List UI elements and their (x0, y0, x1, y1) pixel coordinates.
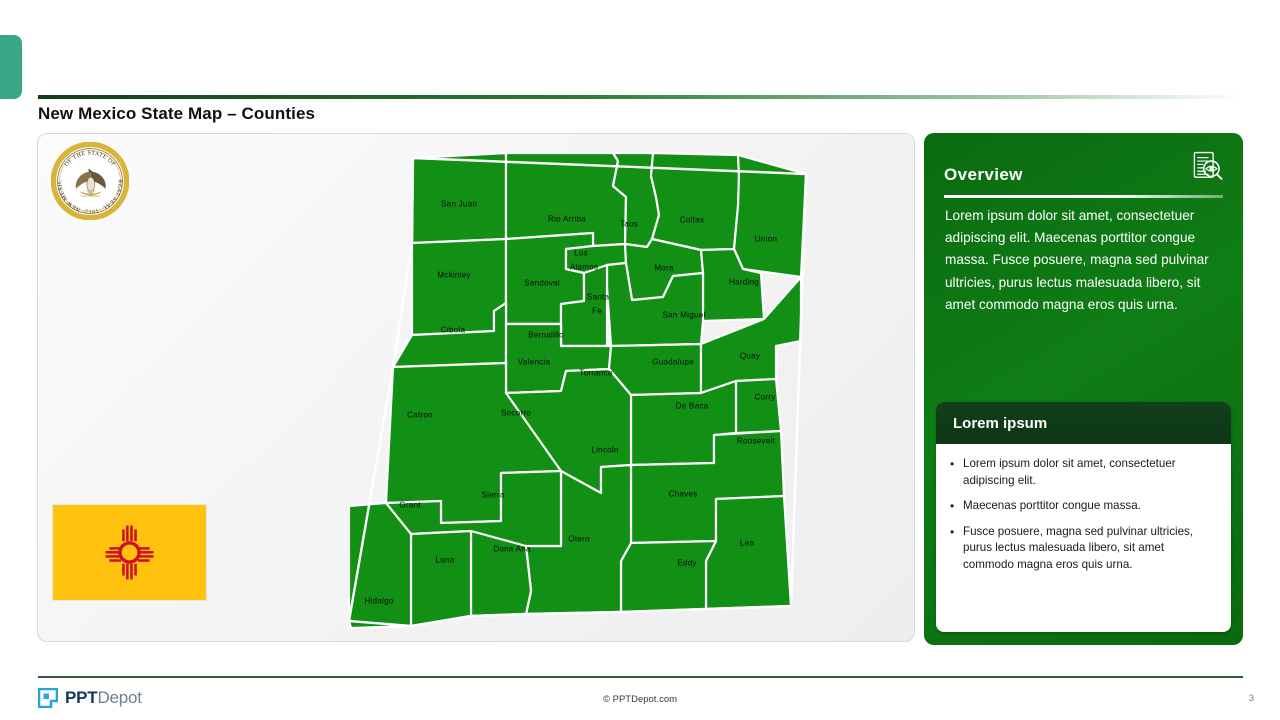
county-label: De Baca (676, 402, 709, 411)
county-label: Los (574, 249, 588, 258)
bullet-text: Maecenas porttitor congue massa. (963, 498, 1141, 515)
county-label: Lincoln (591, 446, 618, 455)
accent-bar (0, 35, 22, 99)
copyright-text: © PPTDepot.com (0, 694, 1280, 705)
county-label: Union (755, 235, 777, 244)
page-title: New Mexico State Map – Counties (38, 104, 315, 124)
bullet-marker: • (950, 524, 963, 574)
title-divider (38, 95, 1243, 99)
county-label: Bernalillo (528, 331, 564, 340)
bullet-marker: • (950, 456, 963, 489)
county-label: Grant (399, 501, 420, 510)
county-label: Mora (654, 264, 673, 273)
county-label: Otero (568, 535, 589, 544)
county-label: Alamos (570, 263, 599, 272)
county-label: Lea (740, 539, 754, 548)
county-label: Dona Ana (493, 545, 531, 554)
county-label: Socorro (501, 409, 531, 418)
lorem-card: Lorem ipsum •Lorem ipsum dolor sit amet,… (936, 402, 1231, 632)
footer-divider (38, 676, 1243, 678)
map-panel: OF THE STATE OF GREAT SEAL ·1912· NEW ME… (37, 133, 915, 642)
bullet-text: Lorem ipsum dolor sit amet, consectetuer… (963, 456, 1217, 489)
county-label: Rio Arriba (548, 215, 586, 224)
county-label: Chaves (669, 490, 698, 499)
overview-panel: Overview Lorem ipsum dolor sit amet, con… (924, 133, 1243, 645)
county-label: Curry (754, 393, 775, 402)
county-label: Santa (587, 293, 609, 302)
page-number: 3 (1249, 693, 1254, 704)
county-label: San Miguel (663, 311, 706, 320)
bullet-item: •Maecenas porttitor congue massa. (950, 498, 1217, 515)
county-label: Cibola (441, 326, 465, 335)
new-mexico-state-flag-icon (52, 504, 207, 601)
county-label: Catron (407, 411, 433, 420)
overview-divider (944, 195, 1223, 198)
county-label: San Juan (441, 200, 477, 209)
county-label: Sandoval (524, 279, 560, 288)
slide: New Mexico State Map – Counties OF THE S… (0, 0, 1280, 720)
bullet-item: •Fusce posuere, magna sed pulvinar ultri… (950, 524, 1217, 574)
lorem-card-bullets: •Lorem ipsum dolor sit amet, consectetue… (936, 444, 1231, 573)
county-label: Colfax (680, 216, 704, 225)
document-search-icon (1191, 150, 1225, 184)
county-label: Mckinley (437, 271, 470, 280)
overview-body: Lorem ipsum dolor sit amet, consectetuer… (945, 205, 1228, 316)
county-label: Sierra (481, 491, 504, 500)
county-label: Taos (620, 220, 638, 229)
overview-heading: Overview (944, 165, 1023, 185)
lorem-card-title: Lorem ipsum (953, 415, 1047, 432)
county-label: Harding (729, 278, 759, 287)
county-label: Valencia (518, 358, 550, 367)
county-label: Roosevelt (737, 437, 775, 446)
county-label: Guadalupe (652, 358, 694, 367)
lorem-card-header: Lorem ipsum (936, 402, 1231, 444)
bullet-item: •Lorem ipsum dolor sit amet, consectetue… (950, 456, 1217, 489)
bullet-text: Fusce posuere, magna sed pulvinar ultric… (963, 524, 1217, 574)
bullet-marker: • (950, 498, 963, 515)
county-label: Fe (592, 307, 602, 316)
county-label: Quay (740, 352, 760, 361)
county-label: Torrance (579, 369, 612, 378)
county-label: Hidalgo (364, 597, 393, 606)
county-label: Luna (435, 556, 454, 565)
county-label: Eddy (677, 559, 696, 568)
